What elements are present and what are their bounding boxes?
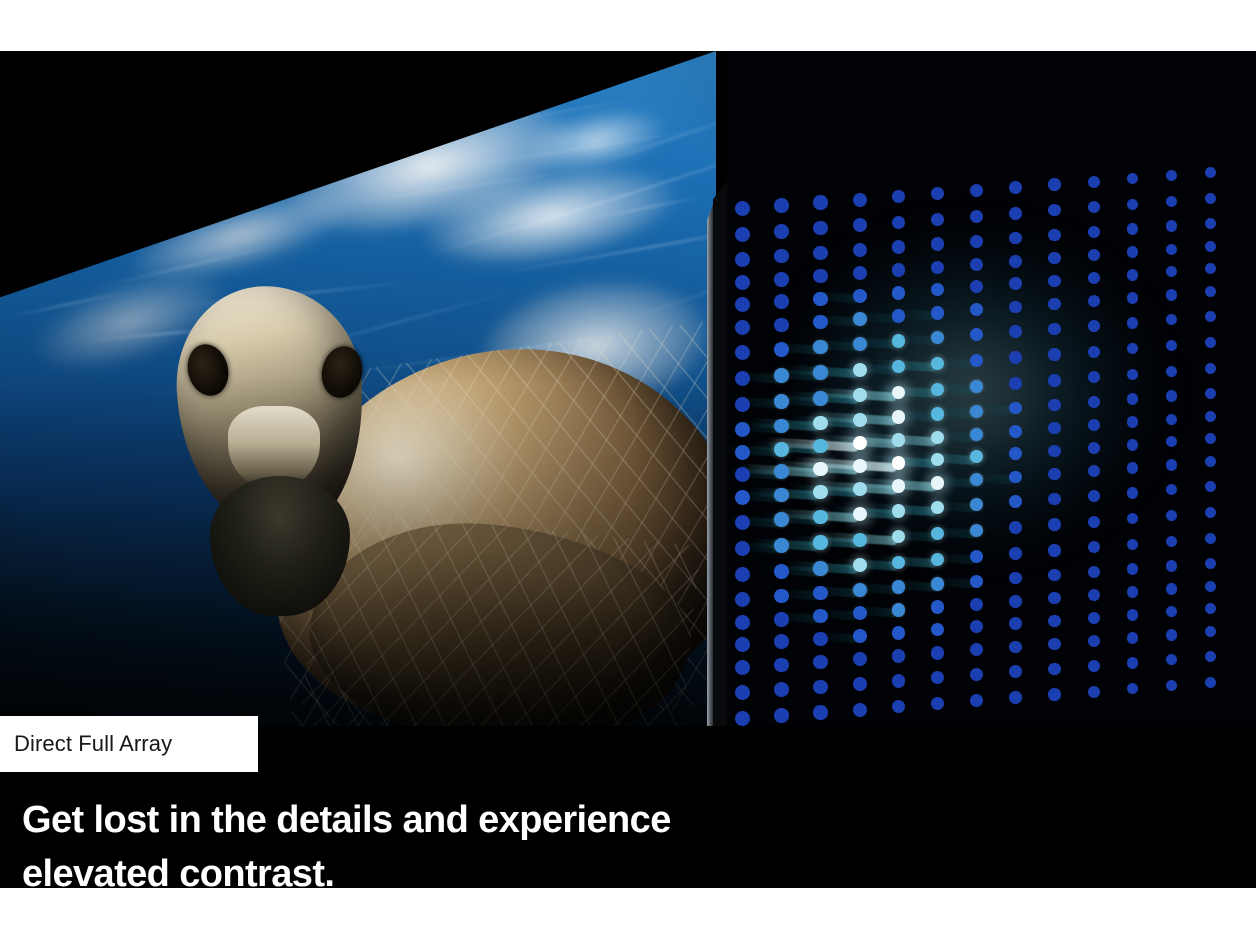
screen-vignette: [0, 51, 716, 726]
badge-label: Direct Full Array: [0, 731, 172, 757]
direct-full-array-backlight: [727, 51, 1256, 726]
hero-stage: Direct Full Array Get lost in the detail…: [0, 51, 1256, 888]
headline-line-2: elevated contrast.: [22, 847, 1022, 888]
headline-line-1: Get lost in the details and experience: [22, 793, 1022, 847]
top-white-margin: [0, 0, 1256, 51]
television-display-panel: [0, 51, 716, 726]
bottom-white-margin: [0, 888, 1256, 942]
promo-banner: Direct Full Array Get lost in the detail…: [0, 0, 1256, 942]
page-title: Get lost in the details and experience e…: [22, 793, 1022, 888]
tv-screen: [0, 51, 716, 726]
direct-full-array-badge: Direct Full Array: [0, 716, 258, 772]
